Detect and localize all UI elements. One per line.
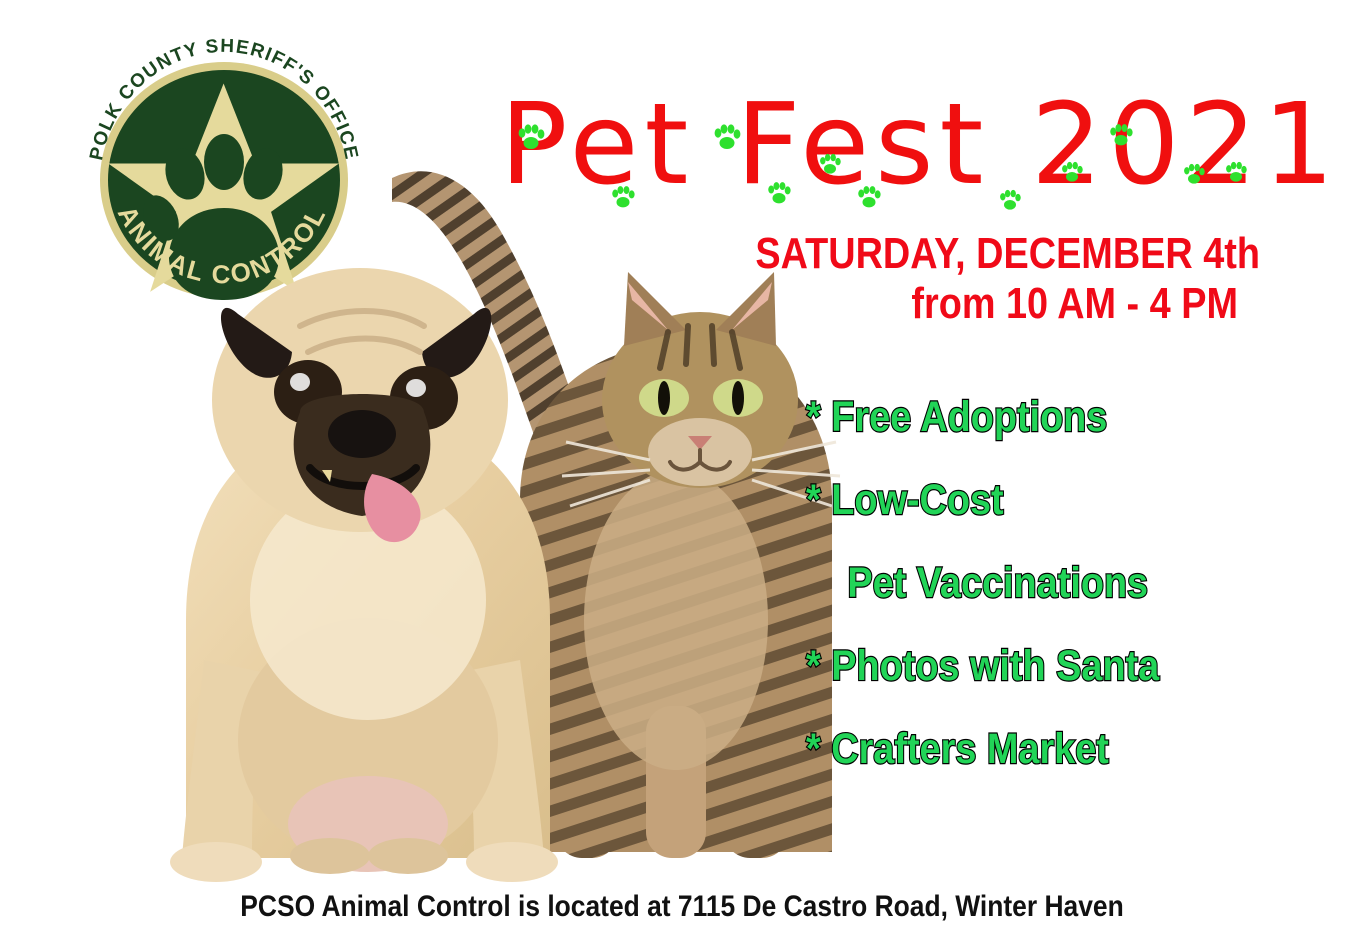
title-block: Pet Fest 2021 <box>500 92 1260 198</box>
list-item: * Free Adoptions <box>806 396 1220 439</box>
feature-label: Free Adoptions <box>831 393 1107 441</box>
agency-logo: POLK COUNTY SHERIFF'S OFFICE ANIMAL CONT… <box>72 22 372 312</box>
feature-label: Low-Cost <box>831 476 1003 524</box>
list-item: * Crafters Market <box>806 728 1220 771</box>
list-item: * Photos with Santa <box>806 645 1220 688</box>
event-time: from 10 AM - 4 PM <box>603 282 1238 326</box>
page-title: Pet Fest 2021 <box>500 92 1260 198</box>
sheriff-animal-control-seal-icon: POLK COUNTY SHERIFF'S OFFICE ANIMAL CONT… <box>72 22 372 312</box>
feature-label: Photos with Santa <box>831 642 1159 690</box>
bullet-asterisk: * <box>806 725 821 773</box>
list-item: Pet Vaccinations <box>806 562 1220 605</box>
pug-dog <box>170 268 558 882</box>
feature-list: * Free Adoptions * Low-Cost Pet Vaccinat… <box>806 396 1276 811</box>
bullet-asterisk: * <box>806 642 821 690</box>
pet-fest-poster: POLK COUNTY SHERIFF'S OFFICE ANIMAL CONT… <box>0 0 1364 950</box>
bullet-asterisk: * <box>806 393 821 441</box>
feature-label: Crafters Market <box>831 725 1109 773</box>
list-item: * Low-Cost <box>806 479 1220 522</box>
cat-tail <box>392 171 608 600</box>
bullet-asterisk: * <box>806 476 821 524</box>
feature-label: Pet Vaccinations <box>847 559 1148 607</box>
location-footer: PCSO Animal Control is located at 7115 D… <box>82 890 1282 924</box>
event-date: SATURDAY, DECEMBER 4th <box>606 232 1260 276</box>
cat <box>520 272 840 858</box>
